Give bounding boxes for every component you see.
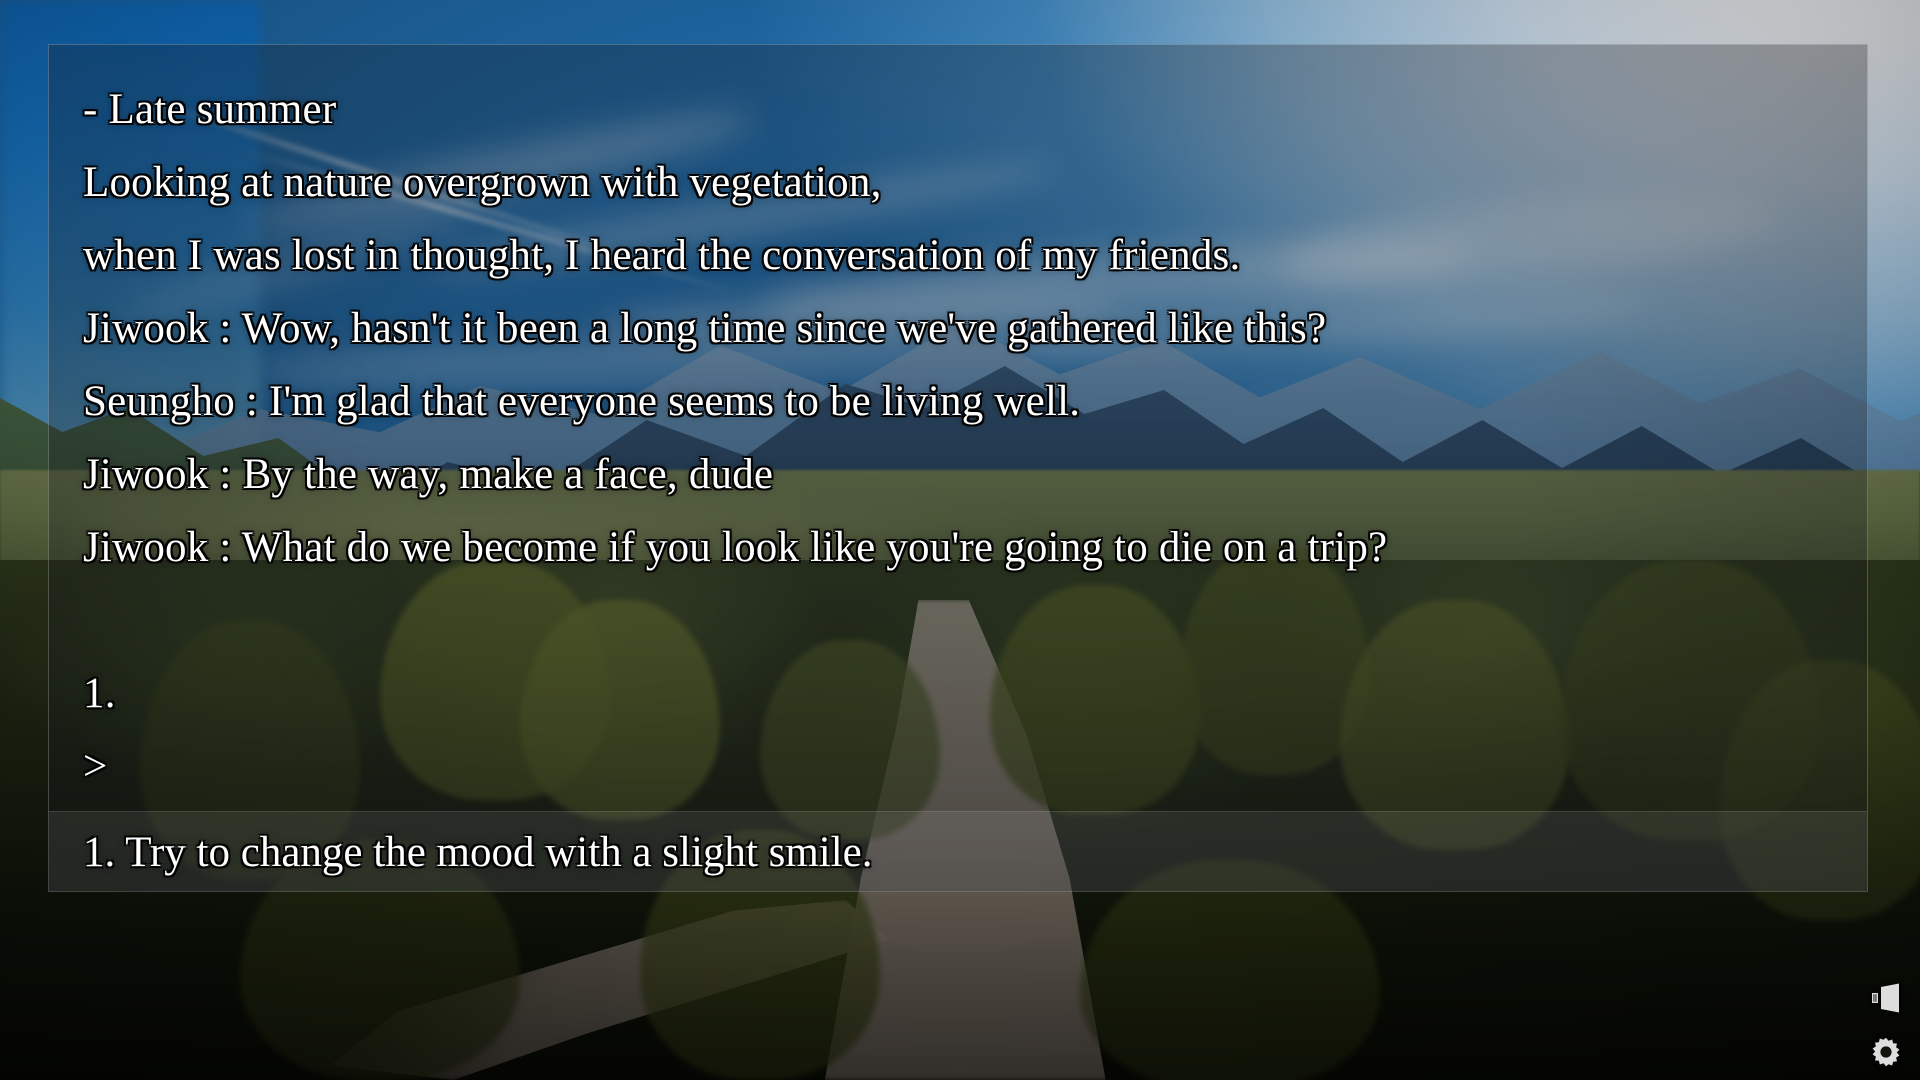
dialogue-line-jiwook: Jiwook : Wow, hasn't it been a long time… (83, 292, 1833, 365)
input-prompt[interactable]: > (83, 730, 1833, 803)
narration-line-heading: - Late summer (83, 73, 1833, 146)
narration-line: Looking at nature overgrown with vegetat… (83, 146, 1833, 219)
volume-button[interactable] (1866, 978, 1906, 1018)
choice-count-label: 1. (83, 657, 1833, 730)
dialogue-line-jiwook: Jiwook : What do we become if you look l… (83, 511, 1833, 584)
game-screen: - Late summer Looking at nature overgrow… (0, 0, 1920, 1080)
speaker-icon (1869, 983, 1903, 1013)
blank-spacer-line (83, 584, 1833, 657)
narration-line: when I was lost in thought, I heard the … (83, 219, 1833, 292)
gear-icon (1870, 1036, 1902, 1068)
corner-controls (1866, 978, 1906, 1072)
settings-button[interactable] (1866, 1032, 1906, 1072)
choice-option-1[interactable]: 1. Try to change the mood with a slight … (49, 811, 1867, 892)
dialogue-line-seungho: Seungho : I'm glad that everyone seems t… (83, 365, 1833, 438)
dialogue-line-jiwook: Jiwook : By the way, make a face, dude (83, 438, 1833, 511)
dialogue-textbox[interactable]: - Late summer Looking at nature overgrow… (48, 44, 1868, 892)
